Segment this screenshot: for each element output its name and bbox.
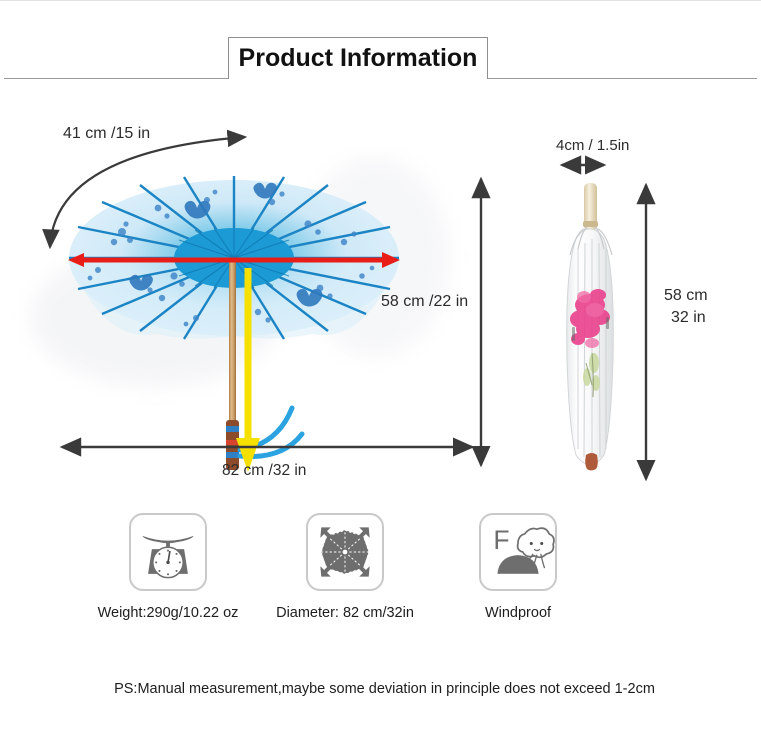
- feature-diameter-box: [306, 513, 384, 591]
- arc-dimension-arrow: [50, 137, 245, 247]
- height-dimension-label-right-cm: 58 cm: [664, 287, 708, 305]
- product-information-infographic: Product Information: [0, 0, 761, 750]
- header-rule-right: [488, 78, 757, 79]
- width-dimension-label-bottom: 82 cm /32 in: [222, 462, 306, 480]
- arc-dimension-label: 41 cm /15 in: [63, 125, 150, 143]
- header-band: Product Information: [0, 37, 761, 89]
- umbrella-top-view-icon: [308, 515, 382, 589]
- feature-diameter-label: Diameter: 82 cm/32in: [245, 605, 445, 621]
- dimension-diagram: 41 cm /15 in 58 cm /22 in 82 cm /32 in 4…: [0, 97, 761, 507]
- feature-weight-box: [129, 513, 207, 591]
- height-dimension-label-left: 58 cm /22 in: [381, 293, 468, 311]
- feature-windproof: F Windproof: [418, 513, 618, 621]
- height-dimension-label-right-in: 32 in: [671, 309, 706, 327]
- svg-text:F: F: [493, 525, 509, 555]
- feature-diameter: Diameter: 82 cm/32in: [245, 513, 445, 621]
- footer-note-text: PS:Manual measurement,maybe some deviati…: [106, 681, 655, 697]
- page-title: Product Information: [228, 37, 488, 79]
- header-rule-left: [4, 78, 228, 79]
- feature-weight-label: Weight:290g/10.22 oz: [68, 605, 268, 621]
- feature-row: Weight:290g/10.22 oz: [0, 513, 761, 653]
- windproof-cloud-icon: F: [481, 515, 555, 589]
- footer-note: PS:Manual measurement,maybe some deviati…: [0, 681, 761, 697]
- feature-windproof-box: F: [479, 513, 557, 591]
- handle-width-dimension-label: 4cm / 1.5in: [556, 137, 629, 154]
- kitchen-scale-icon: [131, 515, 205, 589]
- feature-windproof-label: Windproof: [418, 605, 618, 621]
- feature-weight: Weight:290g/10.22 oz: [68, 513, 268, 621]
